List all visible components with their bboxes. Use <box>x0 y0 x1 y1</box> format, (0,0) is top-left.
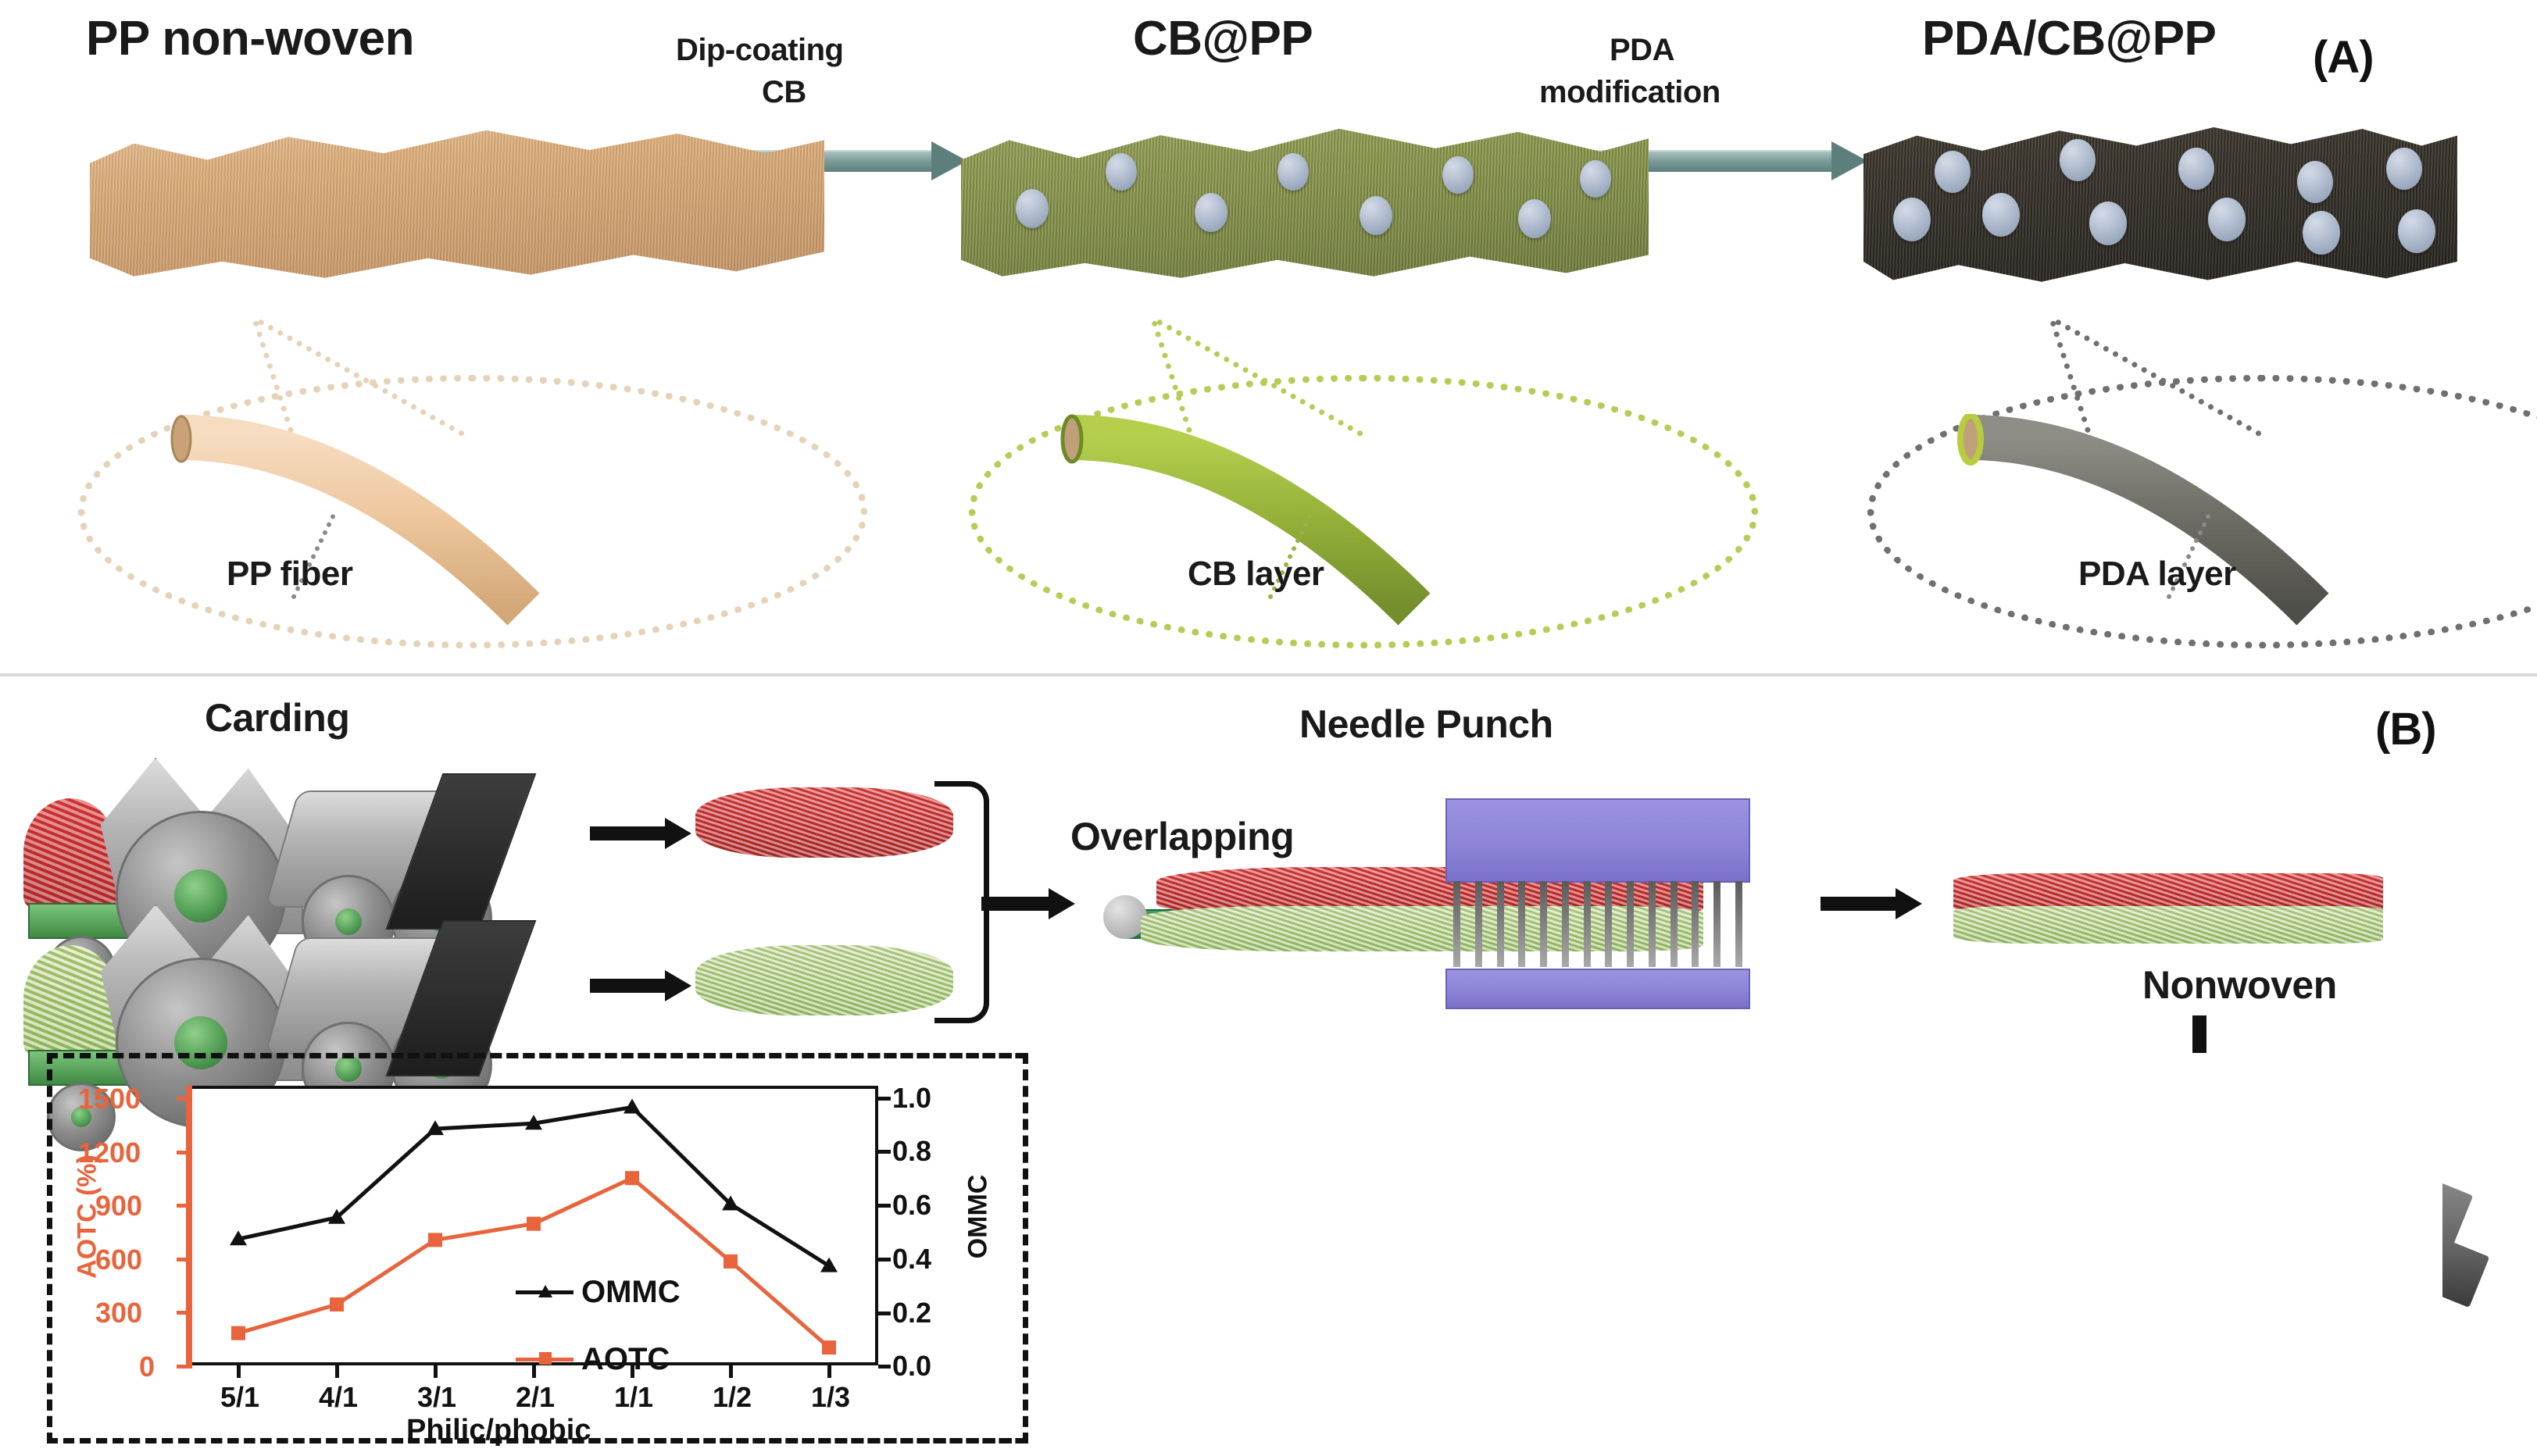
needle <box>1692 881 1699 967</box>
arrow-label-dip-coating-line2: CB <box>762 75 806 110</box>
stage-title-pda-cb-pp: PDA/CB@PP <box>1922 11 2216 66</box>
pda-particle <box>1982 193 2020 237</box>
legend-entry-ommc: OMMC <box>516 1275 774 1309</box>
chart-line-ommc <box>238 1108 829 1266</box>
scientific-figure: (A) PP non-woven CB@PP PDA/CB@PP Dip-coa… <box>0 0 2537 1456</box>
fiber-illustration-cb <box>1047 414 1610 633</box>
chart-marker-aotc <box>625 1171 639 1185</box>
arrow-label-pda-line2: modification <box>1539 75 1721 110</box>
cb-particle <box>1106 153 1137 191</box>
pda-particle <box>2060 139 2096 181</box>
cb-particle <box>1277 153 1309 191</box>
fiber-label-pda-layer: PDA layer <box>2078 555 2236 594</box>
pda-particle <box>1935 151 1971 193</box>
cb-particle <box>1518 199 1551 238</box>
needle <box>1453 881 1460 967</box>
fiber-feed-pile-red <box>23 798 117 908</box>
needle <box>1735 881 1742 967</box>
fiber-illustration-pp <box>156 414 719 633</box>
legend-label-ommc: OMMC <box>581 1275 681 1310</box>
cb-particle <box>1360 196 1392 235</box>
arrow-carding-to-red-web <box>590 820 691 847</box>
label-nonwoven: Nonwoven <box>2142 962 2337 1008</box>
inset-box-mask <box>1028 1053 2442 1444</box>
legend-entry-aotc: AOTC <box>516 1342 774 1376</box>
needle <box>1670 881 1678 967</box>
fiber-label-cb-layer: CB layer <box>1188 555 1324 594</box>
legend-marker-triangle-ommc <box>538 1283 553 1299</box>
needle <box>1627 881 1634 967</box>
fiber-feed-pile-green <box>23 945 117 1055</box>
nonwoven-layer-green <box>1953 906 2383 944</box>
panel-b-tag: (B) <box>2375 703 2436 755</box>
legend-label-aotc: AOTC <box>581 1342 670 1377</box>
needle <box>1540 881 1547 967</box>
needle-array <box>1453 881 1742 967</box>
arrow-label-pda-line1: PDA <box>1610 33 1674 68</box>
chart-series-layer <box>47 1053 1028 1444</box>
chart-legend: OMMC AOTC <box>516 1275 774 1376</box>
needle <box>1497 881 1504 967</box>
needle <box>1475 881 1482 967</box>
arrow-to-nonwoven <box>1821 890 1922 917</box>
pda-particle <box>2297 161 2333 203</box>
needle-punch-base-plate <box>1445 969 1750 1009</box>
cb-particle <box>1580 160 1611 198</box>
chart-marker-aotc <box>822 1340 836 1354</box>
needle-punch-assembly <box>1117 844 1774 1000</box>
label-carding: Carding <box>205 695 349 740</box>
chart-marker-ommc <box>820 1258 838 1272</box>
legend-marker-square-aotc <box>538 1351 553 1366</box>
fabric-sheet-cb-pp <box>961 117 1649 281</box>
fabric-sheet-pp-nonwoven <box>90 117 824 281</box>
inset-chart: 0 300 600 900 1200 1500 AOTC (%) 0.0 0.2… <box>47 1053 1028 1444</box>
cb-particle <box>1195 193 1227 232</box>
needle-board <box>1445 798 1750 883</box>
fiber-label-pp-fiber: PP fiber <box>227 555 352 594</box>
chart-marker-aotc <box>330 1297 344 1311</box>
chart-marker-aotc <box>231 1326 245 1340</box>
pda-particle <box>1893 198 1931 241</box>
arrow-label-dip-coating-line1: Dip-coating <box>676 33 843 68</box>
chart-marker-ommc <box>624 1099 641 1114</box>
arrow-to-overlapping <box>981 890 1075 917</box>
fabric-sheet-pda-cb-pp <box>1863 117 2457 285</box>
chart-marker-aotc <box>527 1217 541 1231</box>
chart-marker-aotc <box>724 1254 738 1269</box>
panel-divider <box>0 673 2537 676</box>
needle <box>1605 881 1612 967</box>
panel-a-tag: (A) <box>2313 31 2374 84</box>
pda-particle <box>2208 198 2246 241</box>
fiber-web-red <box>695 787 953 858</box>
needle <box>1713 881 1721 967</box>
stage-title-cb-pp: CB@PP <box>1133 11 1313 66</box>
chart-marker-aotc <box>428 1233 442 1247</box>
needle <box>1518 881 1525 967</box>
arrow-carding-to-green-web <box>590 972 691 999</box>
needle <box>1649 881 1656 967</box>
stage-title-pp-nonwoven: PP non-woven <box>86 11 414 66</box>
pda-particle <box>2178 148 2214 190</box>
pda-particle <box>2089 202 2127 245</box>
pda-particle <box>2386 148 2422 190</box>
needle <box>1584 881 1591 967</box>
nonwoven-product <box>1953 873 2383 959</box>
fiber-illustration-pda <box>1946 414 2508 633</box>
fiber-web-green <box>695 945 953 1015</box>
pda-particle <box>2398 209 2435 253</box>
needle <box>1562 881 1569 967</box>
label-needle-punch: Needle Punch <box>1299 701 1553 747</box>
